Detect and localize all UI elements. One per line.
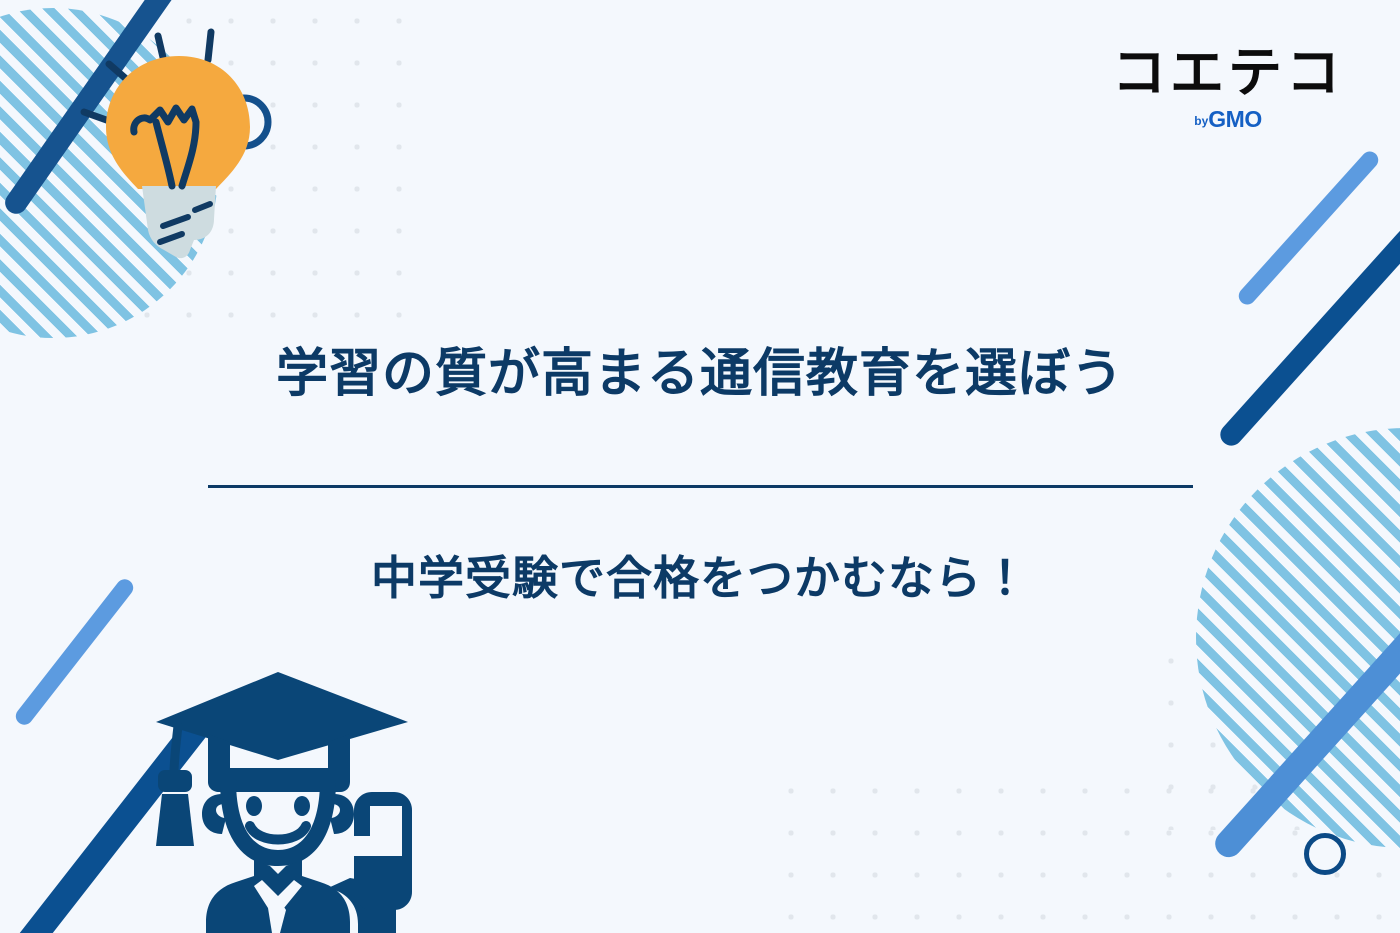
logo-by-text: by: [1194, 114, 1208, 128]
page-title: 学習の質が高まる通信教育を選ぼう: [0, 342, 1400, 407]
title-divider: [208, 485, 1193, 488]
eyecatch-canvas: コエテコ byGMO 学習の質が高まる通信教育を選ぼう 中学受験で合格をつかむな…: [0, 0, 1400, 933]
hero-text-block: 学習の質が高まる通信教育を選ぼう 中学受験で合格をつかむなら！: [0, 342, 1400, 608]
ring-outline-icon: [1304, 833, 1346, 875]
graduate-student-icon: [150, 660, 420, 933]
logo-wordmark: コエテコ: [1112, 46, 1344, 100]
logo-gmo-text: GMO: [1208, 106, 1261, 132]
page-subtitle: 中学受験で合格をつかむなら！: [0, 550, 1400, 608]
logo-byline: byGMO: [1112, 108, 1344, 131]
lightbulb-icon: [64, 14, 294, 264]
brand-logo[interactable]: コエテコ byGMO: [1112, 46, 1344, 131]
